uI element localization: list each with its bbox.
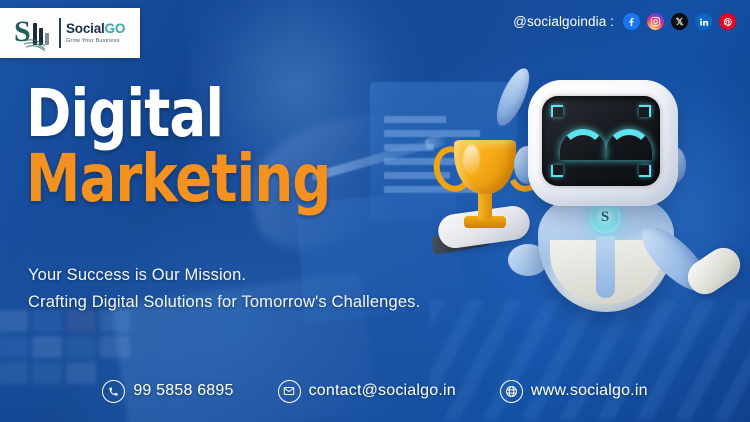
globe-icon	[500, 380, 523, 403]
phone-icon	[102, 380, 125, 403]
screen-bracket-top-left-icon	[551, 105, 563, 117]
contact-email[interactable]: contact@socialgo.in	[278, 380, 456, 403]
instagram-icon[interactable]	[647, 13, 664, 30]
contact-website[interactable]: www.socialgo.in	[500, 380, 648, 403]
page-title: Digital Marketing	[26, 84, 357, 209]
socialgo-s-mark-icon: S	[14, 15, 54, 51]
headline-line-2: Marketing	[26, 149, 330, 210]
logo-wrap: S SocialGO Grow You	[0, 15, 125, 51]
logo-tagline: Grow Your Business	[66, 38, 125, 44]
logo-name-part2: GO	[105, 21, 126, 36]
screen-bracket-top-right-icon	[639, 105, 651, 117]
contact-email-text: contact@socialgo.in	[309, 382, 456, 400]
robot-tie	[596, 236, 615, 298]
x-twitter-icon[interactable]	[671, 13, 688, 30]
screen-bracket-bottom-right-icon	[639, 165, 651, 177]
robot-eye-left-icon	[560, 129, 606, 160]
promo-banner: S SocialGO Grow You	[0, 0, 750, 422]
contact-website-text: www.socialgo.in	[531, 382, 648, 400]
robot-eye-right-icon	[606, 129, 652, 160]
social-bar: @socialgoindia :	[513, 13, 736, 30]
tagline: Your Success is Our Mission. Crafting Di…	[28, 262, 420, 315]
robot-mascot: S	[490, 58, 750, 388]
tagline-line-2: Crafting Digital Solutions for Tomorrow'…	[28, 289, 420, 316]
contact-phone[interactable]: 99 5858 6895	[102, 380, 233, 403]
logo-name-part1: Social	[66, 21, 105, 36]
logo-text: SocialGO Grow Your Business	[59, 18, 125, 48]
robot-face-screen	[542, 96, 660, 186]
social-handle: @socialgoindia :	[513, 14, 614, 29]
contact-bar: 99 5858 6895 contact@socialgo.in www.soc…	[0, 374, 750, 408]
trophy-highlight	[463, 145, 480, 175]
tagline-line-1: Your Success is Our Mission.	[28, 262, 420, 289]
linkedin-icon[interactable]	[695, 13, 712, 30]
facebook-icon[interactable]	[623, 13, 640, 30]
logo-name: SocialGO	[66, 22, 125, 36]
contact-phone-text: 99 5858 6895	[133, 382, 233, 400]
headline-line-1: Digital	[26, 84, 330, 145]
pinterest-icon[interactable]	[719, 13, 736, 30]
brand-logo-panel[interactable]: S SocialGO Grow You	[0, 8, 140, 58]
screen-bracket-bottom-left-icon	[551, 165, 563, 177]
envelope-icon	[278, 380, 301, 403]
